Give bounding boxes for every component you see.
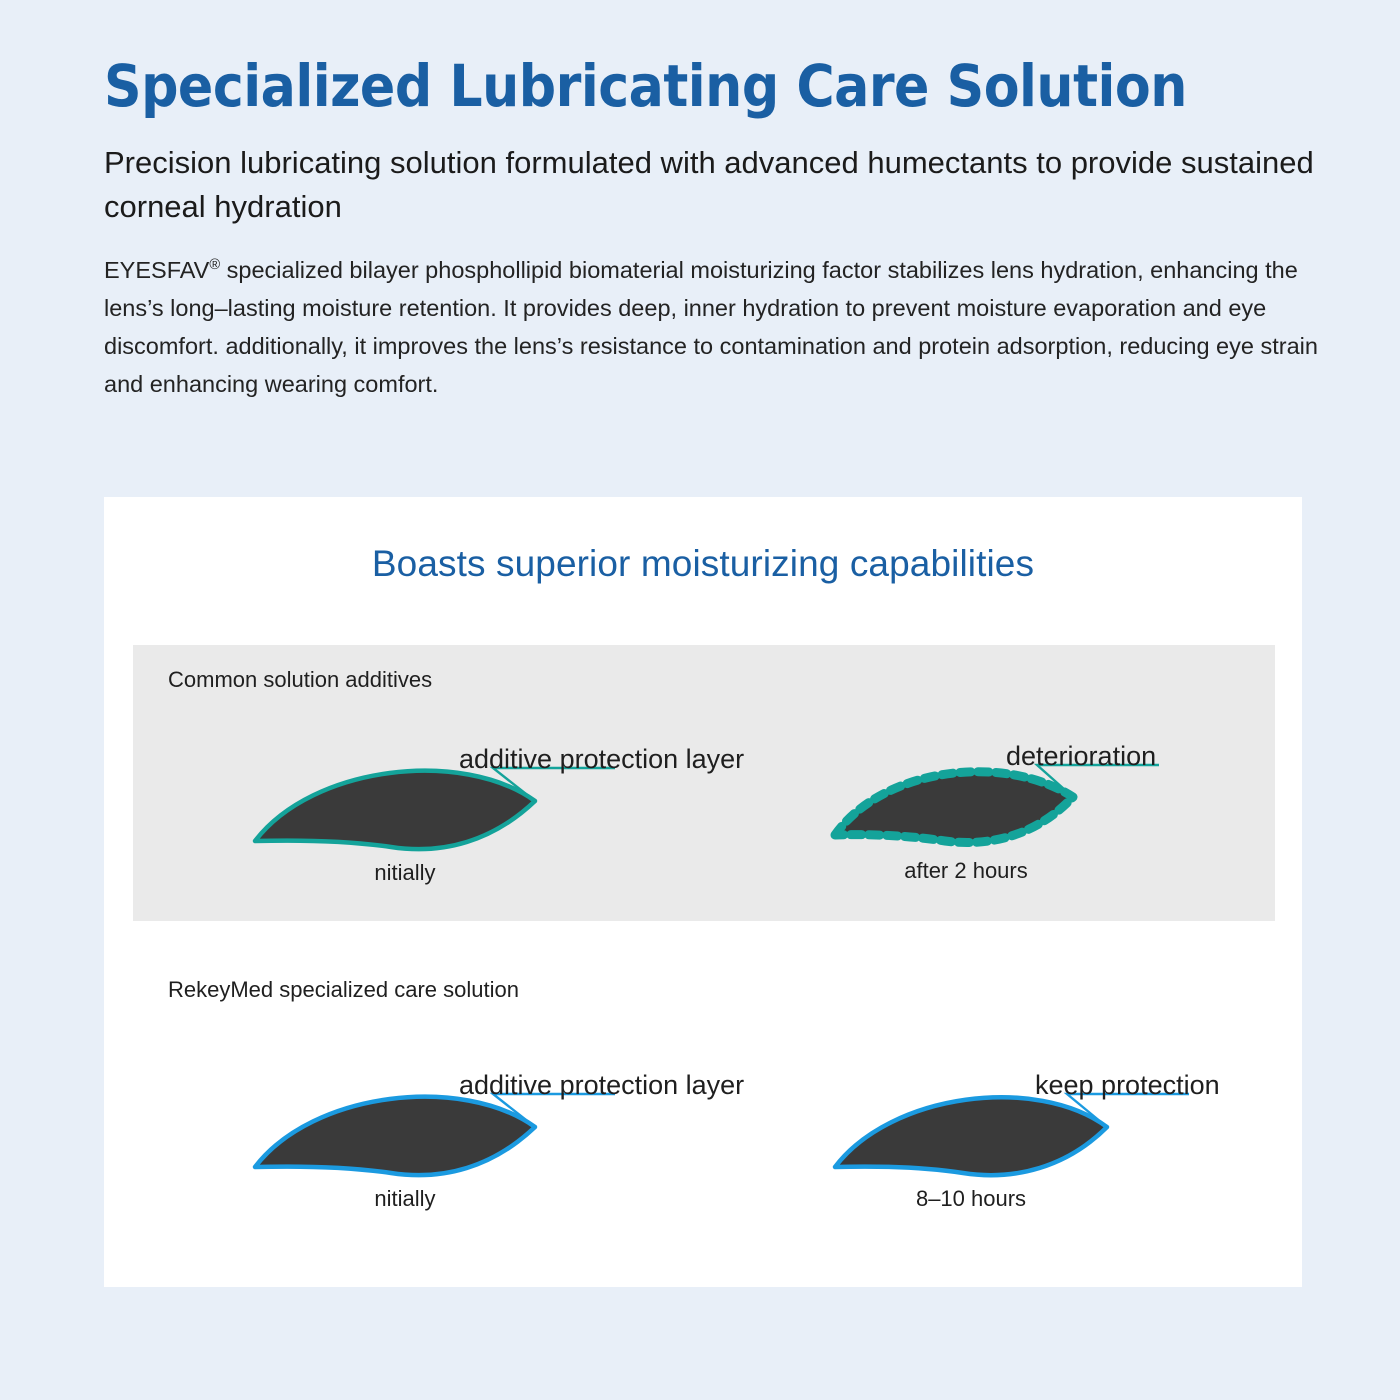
comparison-card: Boasts superior moisturizing capabilitie… [104,497,1302,1287]
callout-label-keep-protection: keep protection [1035,1070,1220,1101]
lens-body-shape [835,1097,1107,1175]
lens-body-shape [835,772,1073,843]
lens-row-common: additive protection layer nitially deter… [133,645,1275,921]
lens-body-shape [255,1097,535,1175]
lens-cell-common-degraded: deterioration after 2 hours [805,645,1365,921]
stage-label-after-2-hours: after 2 hours [853,858,1079,884]
page-root: Specialized Lubricating Care Solution Pr… [0,0,1400,1400]
lens-cell-rekeymed-initial: additive protection layer nitially [163,955,723,1255]
lens-cell-rekeymed-kept: keep protection 8–10 hours [805,955,1365,1255]
body-paragraph: EYESFAV® specialized bilayer phosphollip… [104,251,1319,403]
body-brand-name: EYESFAV [104,257,209,283]
panel-rekeymed-solution: RekeyMed specialized care solution addit… [133,955,1275,1255]
lens-body-shape [255,771,535,849]
lens-cell-common-initial: additive protection layer nitially [163,645,723,921]
panel-common-solution: Common solution additives additive prote… [133,645,1275,921]
callout-label-additive-protection-layer: additive protection layer [459,1070,744,1101]
lens-row-rekeymed: additive protection layer nitially keep … [133,955,1275,1255]
stage-label-initially: nitially [305,860,505,886]
registered-trademark-icon: ® [209,257,220,273]
page-subtitle: Precision lubricating solution formulate… [104,141,1329,229]
callout-label-deterioration: deterioration [1006,741,1156,772]
header-block: Specialized Lubricating Care Solution Pr… [104,56,1329,403]
stage-label-initially: nitially [305,1186,505,1212]
callout-label-additive-protection-layer: additive protection layer [459,744,744,775]
card-title: Boasts superior moisturizing capabilitie… [104,543,1302,585]
stage-label-8-10-hours: 8–10 hours [871,1186,1071,1212]
page-title: Specialized Lubricating Care Solution [104,56,1329,117]
body-paragraph-text: specialized bilayer phosphollipid biomat… [104,257,1318,397]
